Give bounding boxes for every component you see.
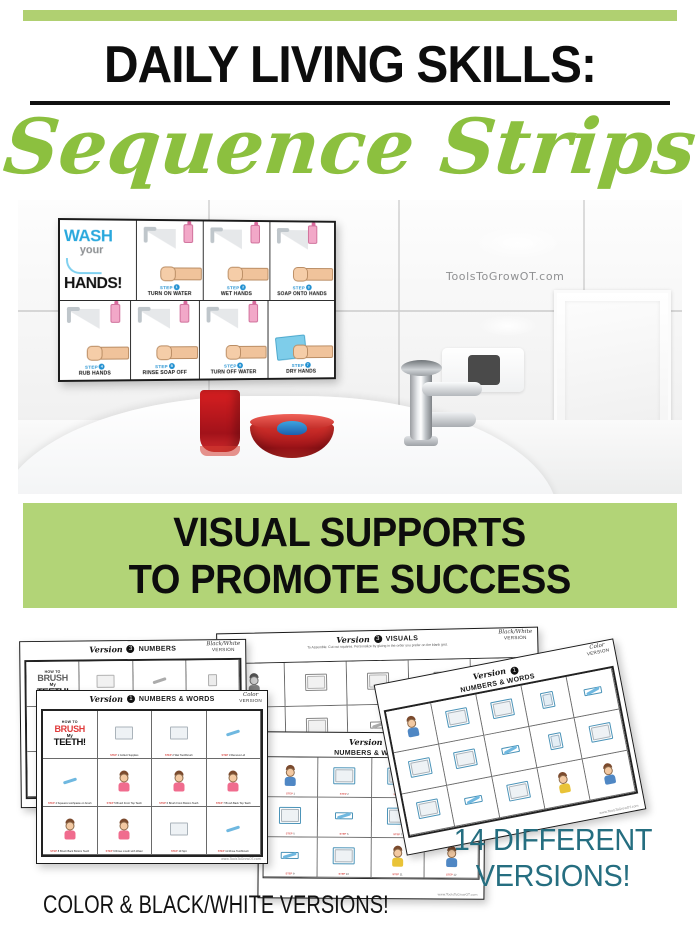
faucet-top [401,360,442,376]
cell-caption: STEP 5 [264,832,317,836]
photo-watermark: ToolsToGrowOT.com [446,270,564,283]
version-number-badge: 3 [374,635,382,643]
step2-illustration [204,221,269,283]
cell-caption: STEP 10 [317,872,370,876]
poster-step-cell: STEP3 SOAP ONTO HANDS [270,222,334,299]
blue-soap [277,421,307,435]
red-cup [200,390,240,452]
step-number-badge: 2 [240,284,246,290]
faucet-handle [422,382,482,396]
cell-caption: STEP 9 Rinse mouth with Water [98,850,152,853]
sequence-cell [492,768,545,818]
faucet-body [410,368,432,440]
version-kind: NUMBERS [139,645,177,652]
versions-count-line1: 14 DIFFERENT [427,822,678,858]
cell-caption: STEP 9 [264,872,317,876]
sequence-cell: STEP 4 Squeeze toothpaste on brush [43,759,98,807]
swirl-icon [66,258,102,274]
sequence-cell: STEP 2 Wet Toothbrush [152,711,207,759]
preview-sheet-brush-v1-color: Version 1 NUMBERS & WORDS ColorVERSION H… [36,690,268,864]
wash-hands-poster: WASH your HANDS! STEP1 TURN ON WATER [58,218,336,382]
poster-step-cell: STEP2 WET HANDS [204,221,270,299]
version-tag: ColorVERSION [585,641,610,657]
sequence-cell: STEP 9 Rinse mouth with Water [98,807,153,855]
socket-hole-icon [468,355,500,385]
step-number-badge: 3 [306,284,312,290]
poster-title-your: your [80,244,104,256]
sequence-cell: STEP 5 Brush Front Top Teeth [98,759,153,807]
versions-count-text: 14 DIFFERENT VERSIONS! [427,822,678,894]
poster-step-label: RINSE SOAP OFF [143,370,187,377]
page-subtitle: Sequence Strips [0,104,700,190]
poster-title-cell: WASH your HANDS! [60,220,136,299]
step5-illustration [131,300,199,363]
red-cup-base [200,446,240,456]
poster-step-cell: STEP1 TURN ON WATER [136,221,203,300]
version-number-badge: 1 [127,695,135,703]
sequence-cell: STEP 1 [264,757,318,797]
step-number-badge: 1 [174,284,180,290]
sequence-cell: STEP 11 Rinse Toothbrush [207,807,262,855]
step3-illustration [270,222,334,284]
cell-caption: STEP 11 [371,873,424,877]
cell-caption: STEP 1 Collect Supplies [98,754,152,757]
cell-caption: STEP 8 Brush Back Bottom Teeth [43,850,97,853]
banner-line-2: TO PROMOTE SUCCESS [129,556,571,603]
cell-caption: STEP 2 Wet Toothbrush [152,754,206,757]
sequence-cell [447,777,500,827]
brush-grid: HOW TO BRUSH My TEETH! STEP 1 Collect Su… [41,709,263,857]
brush-title-cell: HOW TO BRUSH My TEETH! [43,711,98,759]
step-number-badge: 7 [305,362,311,368]
step4-illustration [60,300,130,363]
top-green-rule [23,10,677,21]
poster-title-wash: WASH [64,227,112,244]
version-tag: ColorVERSION [239,692,262,704]
poster-step-word: STEP1 [160,284,180,291]
sheet-watermark: www.ToolsToGrowOT.com [599,804,639,816]
poster-row-bottom: STEP4 RUB HANDS STEP5 RINSE SOAP OFF [60,300,334,379]
cell-caption: STEP 4 Squeeze toothpaste on brush [43,802,97,805]
banner-line-1: VISUAL SUPPORTS [174,509,527,556]
version-tag: Black/WhiteVERSION [498,629,532,642]
versions-count-line2: VERSIONS! [427,858,678,894]
sheet-watermark: www.ToolsToGrowOT.com [221,857,261,861]
step-number-badge: 4 [99,364,105,370]
poster-step-cell: STEP5 RINSE SOAP OFF [131,300,200,379]
sequence-cell: STEP 7 Brush Back Top Teeth [207,759,262,807]
version-kind: NUMBERS & WORDS [139,696,215,703]
version-word: Version [349,736,383,746]
poster-step-cell: STEP4 RUB HANDS [60,300,131,379]
version-word: Version [89,694,122,704]
sequence-cell: STEP 6 [318,798,372,838]
version-tag: Black/WhiteVERSION [206,641,240,653]
poster-step-label: RUB HANDS [79,371,111,378]
cell-caption: STEP 5 Brush Front Top Teeth [98,802,152,805]
sequence-cell: STEP 10 [317,838,371,878]
sequence-cell [538,759,591,809]
bathroom-sink-photo: ToolsToGrowOT.com WASH your HANDS! [18,200,682,494]
poster-row-top: WASH your HANDS! STEP1 TURN ON WATER [60,220,334,300]
sequence-cell [583,751,636,801]
poster-step-label: SOAP ONTO HANDS [277,291,327,298]
cell-caption: STEP 1 [264,792,317,796]
poster-step-cell: STEP6 TURN OFF WATER [200,300,268,378]
cell-caption: STEP 11 Rinse Toothbrush [207,850,261,853]
product-cover: DAILY LIVING SKILLS: Sequence Strips Too… [0,0,700,942]
page-title: DAILY LIVING SKILLS: [28,36,672,94]
cell-caption: STEP 10 Spit [152,850,206,853]
sequence-cell: STEP 9 [264,837,318,877]
poster-step-label: DRY HANDS [286,369,316,376]
poster-step-label: TURN ON WATER [148,291,192,298]
version-kind: VISUALS [386,635,419,643]
color-bw-versions-text: COLOR & BLACK/WHITE VERSIONS! [43,890,387,920]
cell-caption: STEP 6 Brush Front Bottom Teeth [152,802,206,805]
brush-title-teeth: TEETH! [54,738,86,748]
sequence-cell: STEP 5 [264,797,318,837]
version-number-badge: 1 [510,666,519,675]
sequence-cell: STEP 3 Remove Lid [207,711,262,759]
sequence-cell: STEP 8 Brush Back Bottom Teeth [43,807,98,855]
sheet-header: Version 1 NUMBERS & WORDS ColorVERSION [37,691,267,707]
version-word: Version [89,644,123,654]
visual-supports-banner: VISUAL SUPPORTS TO PROMOTE SUCCESS [23,503,677,608]
poster-step-label: WET HANDS [221,291,252,298]
cell-caption: STEP 3 Remove Lid [207,754,261,757]
cell-caption: STEP 6 [318,832,371,836]
cell-caption: STEP 2 [318,792,371,796]
sequence-cell: STEP 1 Collect Supplies [98,711,153,759]
step-number-badge: 5 [169,363,175,369]
version-number-badge: 3 [127,645,135,653]
sheet-header: Version 3 NUMBERS Black/WhiteVERSION [20,640,245,658]
step6-illustration [200,300,267,362]
poster-step-word: STEP3 [293,284,312,291]
step7-illustration [268,300,334,362]
sequence-cell: STEP 10 Spit [152,807,207,855]
step-number-badge: 6 [238,363,244,369]
poster-step-cell: STEP7 DRY HANDS [268,300,334,377]
sequence-cell: STEP 6 Brush Front Bottom Teeth [152,759,207,807]
sequence-cell: STEP 2 [318,758,372,798]
poster-step-word: STEP2 [227,284,246,291]
poster-title-hands: HANDS! [64,275,122,292]
poster-step-label: TURN OFF WATER [211,369,257,376]
cell-caption: STEP 7 Brush Back Top Teeth [207,802,261,805]
step1-illustration [136,221,202,284]
visual-card [285,662,348,707]
